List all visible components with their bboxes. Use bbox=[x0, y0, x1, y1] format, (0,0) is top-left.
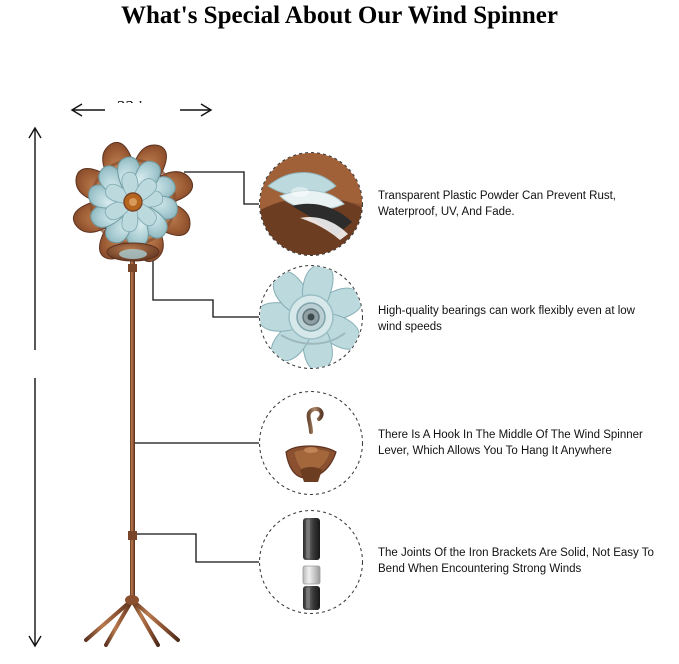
height-label-mask bbox=[8, 350, 64, 378]
rotor-front-teal bbox=[84, 154, 182, 250]
spinner-pole bbox=[128, 252, 137, 605]
detail-circle-bearing bbox=[253, 259, 366, 373]
spinner-stake-legs bbox=[86, 600, 178, 648]
detail-circle-coating bbox=[259, 152, 363, 256]
height-dimension-arrow bbox=[29, 128, 41, 646]
product-diagram bbox=[0, 0, 679, 664]
stake-hub bbox=[125, 595, 139, 605]
width-label-mask bbox=[105, 103, 180, 118]
rotor-lower bbox=[107, 243, 159, 261]
detail-circle-hook bbox=[259, 391, 363, 495]
detail-circle-joints bbox=[259, 510, 363, 614]
